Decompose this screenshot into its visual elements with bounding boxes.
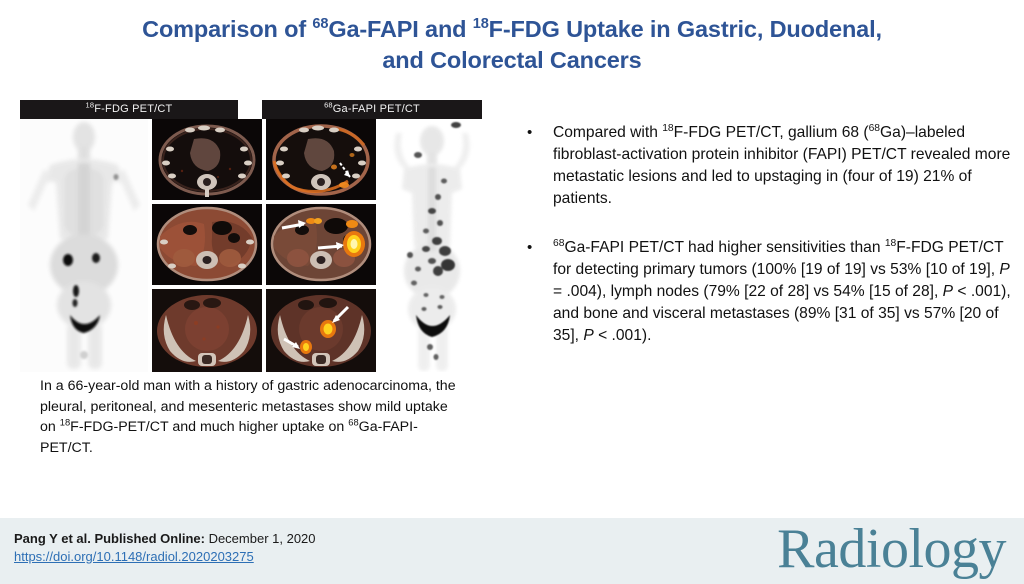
bullet-2-sup-18: 18 bbox=[885, 237, 896, 248]
citation-authors: Pang Y et al. Published Online: bbox=[14, 531, 205, 546]
caption-sup-68: 68 bbox=[348, 417, 358, 427]
bullet-2-text-a: Ga-FAPI PET/CT had higher sensitivities … bbox=[564, 239, 884, 256]
figure-header-row: 18F-FDG PET/CT 68Ga-FAPI PET/CT bbox=[20, 100, 482, 119]
mip-image-fdg bbox=[20, 119, 148, 372]
bullet-1-text-a: Compared with bbox=[553, 124, 662, 141]
panel-header-fdg: 18F-FDG PET/CT bbox=[20, 100, 238, 119]
title-sup-18: 18 bbox=[473, 16, 489, 32]
bullet-marker: • bbox=[527, 237, 532, 258]
citation-date: December 1, 2020 bbox=[205, 531, 316, 546]
panel-header-fdg-label: F-FDG PET/CT bbox=[94, 103, 172, 115]
title-line-2: and Colorectal Cancers bbox=[382, 47, 641, 73]
bullet-1-sup-18: 18 bbox=[662, 123, 673, 134]
bullet-2-p-value-3: P bbox=[583, 327, 593, 344]
panel-header-fapi-label: Ga-FAPI PET/CT bbox=[333, 103, 420, 115]
citation: Pang Y et al. Published Online: December… bbox=[14, 529, 316, 549]
title-sup-68: 68 bbox=[312, 16, 328, 32]
panel-header-fdg-sup: 18 bbox=[86, 100, 95, 109]
key-points-list: •Compared with 18F-FDG PET/CT, gallium 6… bbox=[520, 122, 1020, 373]
caption-sup-18: 18 bbox=[60, 417, 70, 427]
figure-caption: In a 66-year-old man with a history of g… bbox=[40, 376, 460, 458]
panel-header-fapi-sup: 68 bbox=[324, 100, 333, 109]
pet-ct-figure: 18F-FDG PET/CT 68Ga-FAPI PET/CT bbox=[20, 100, 482, 372]
bullet-1-sup-68: 68 bbox=[869, 123, 880, 134]
axial-pelvis-fapi bbox=[266, 289, 376, 372]
bullet-1-text-b: F-FDG PET/CT, gallium 68 ( bbox=[674, 124, 869, 141]
bullet-2-p-value-2: P bbox=[943, 283, 953, 300]
list-item: •68Ga-FAPI PET/CT had higher sensitiviti… bbox=[520, 237, 1020, 348]
bullet-marker: • bbox=[527, 122, 532, 143]
axial-chest-fapi bbox=[266, 119, 376, 200]
radiology-logo: Radiology bbox=[777, 520, 1006, 579]
title-text-a: Comparison of bbox=[142, 16, 312, 42]
axial-abdomen-fdg bbox=[152, 204, 262, 285]
bullet-2-p-value-1: P bbox=[999, 261, 1009, 278]
mip-fdg-svg bbox=[20, 119, 148, 372]
axial-chest-fdg bbox=[152, 119, 262, 200]
axial-column-fapi bbox=[266, 119, 376, 372]
axial-abdomen-fapi bbox=[266, 204, 376, 285]
axial-column-fdg bbox=[152, 119, 262, 372]
caption-text-b: F-FDG-PET/CT and much higher uptake on bbox=[70, 419, 348, 435]
panel-header-fapi: 68Ga-FAPI PET/CT bbox=[262, 100, 482, 119]
axial-pelvis-fdg bbox=[152, 289, 262, 372]
title-line-1: Comparison of 68Ga-FAPI and 18F-FDG Upta… bbox=[142, 16, 882, 42]
bullet-2-text-c: = .004), lymph nodes (79% [22 of 28] vs … bbox=[553, 283, 943, 300]
bullet-2-text-e: < .001). bbox=[594, 327, 652, 344]
page-title: Comparison of 68Ga-FAPI and 18F-FDG Upta… bbox=[60, 14, 964, 77]
mip-image-fapi bbox=[382, 119, 482, 372]
figure-image-row bbox=[20, 119, 482, 372]
bullet-2-sup-68: 68 bbox=[553, 237, 564, 248]
doi-link[interactable]: https://doi.org/10.1148/radiol.202020327… bbox=[14, 549, 254, 564]
title-text-c: F-FDG Uptake in Gastric, Duodenal, bbox=[489, 16, 882, 42]
list-item: •Compared with 18F-FDG PET/CT, gallium 6… bbox=[520, 122, 1020, 211]
mip-fapi-svg bbox=[382, 119, 482, 372]
footer-bar: Pang Y et al. Published Online: December… bbox=[0, 518, 1024, 584]
title-text-b: Ga-FAPI and bbox=[328, 16, 472, 42]
